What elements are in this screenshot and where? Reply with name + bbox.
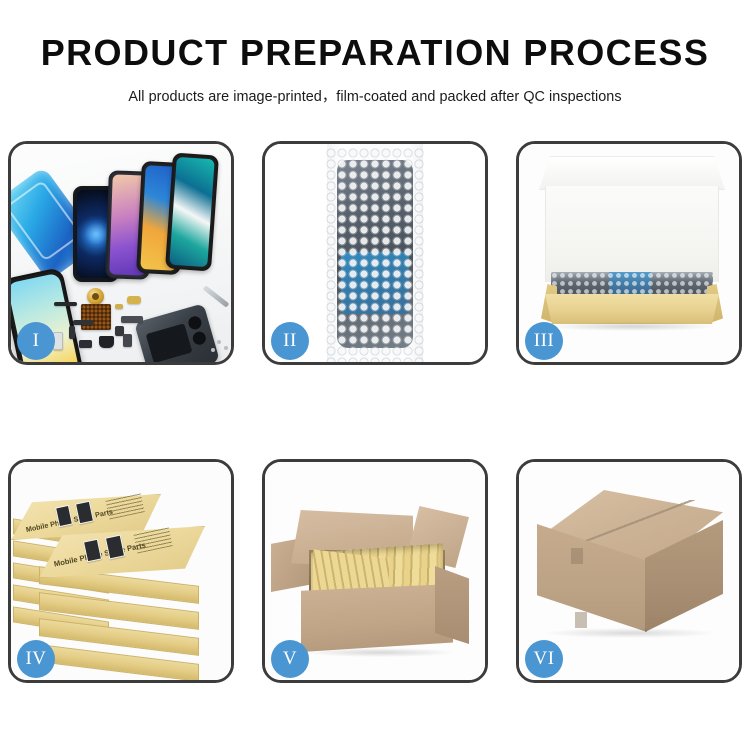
bubble-wrap-cells-highlight (326, 148, 424, 362)
screw-graphic-3 (211, 348, 215, 352)
step-panel-5[interactable]: V (262, 459, 488, 683)
mesh-component-graphic (81, 304, 111, 330)
step-panel-4[interactable]: Mobile Phone Spare Parts Mobile Phone Sp… (8, 459, 234, 683)
step-panel-1[interactable]: I (8, 141, 234, 365)
page-title: PRODUCT PREPARATION PROCESS (0, 34, 750, 72)
phone-screen-graphic-4 (165, 153, 219, 272)
flex-cable-part-graphic-e (69, 326, 75, 339)
carton-right-side-graphic (435, 566, 469, 644)
step-badge-1: I (17, 322, 55, 360)
sealed-carton-shadow (545, 628, 715, 638)
flex-cable-part-graphic-b (127, 296, 141, 304)
page-subtitle: All products are image-printed，film-coat… (0, 85, 750, 106)
step-badge-3: III (525, 322, 563, 360)
step-badge-5: V (271, 640, 309, 678)
kraft-box-front-panel-graphic (545, 294, 719, 324)
speaker-part-graphic (79, 340, 92, 348)
kraft-box-back-panel-graphic (545, 186, 719, 282)
sealed-carton-seam-upper (571, 548, 583, 564)
screw-graphic-1 (217, 340, 221, 344)
sealed-carton-seam-lower (575, 612, 587, 628)
kraft-box-shadow (549, 322, 715, 331)
flex-cable-part-graphic-c (115, 304, 123, 309)
step-badge-4: IV (17, 640, 55, 678)
product-preparation-page: PRODUCT PREPARATION PROCESS All products… (0, 0, 750, 750)
camera-module-part-graphic (99, 336, 114, 348)
step-panel-2[interactable]: II (262, 141, 488, 365)
step-badge-2: II (271, 322, 309, 360)
screw-graphic-2 (224, 346, 228, 350)
step-badge-6: VI (525, 640, 563, 678)
connector-part-graphic (123, 334, 132, 347)
flex-cable-part-graphic-a (54, 302, 77, 306)
kraft-box-lid-graphic (539, 156, 725, 190)
step-panel-3[interactable]: III (516, 141, 742, 365)
speaker-coil-part-graphic (87, 288, 104, 305)
flex-cable-part-graphic-d (73, 320, 93, 325)
carton-front-panel-graphic (301, 584, 453, 652)
flex-cable-part-graphic-f (121, 316, 143, 323)
carton-shadow (305, 648, 455, 657)
process-steps-grid: I II (8, 141, 742, 683)
step-panel-6[interactable]: VI (516, 459, 742, 683)
header: PRODUCT PREPARATION PROCESS All products… (0, 34, 750, 106)
